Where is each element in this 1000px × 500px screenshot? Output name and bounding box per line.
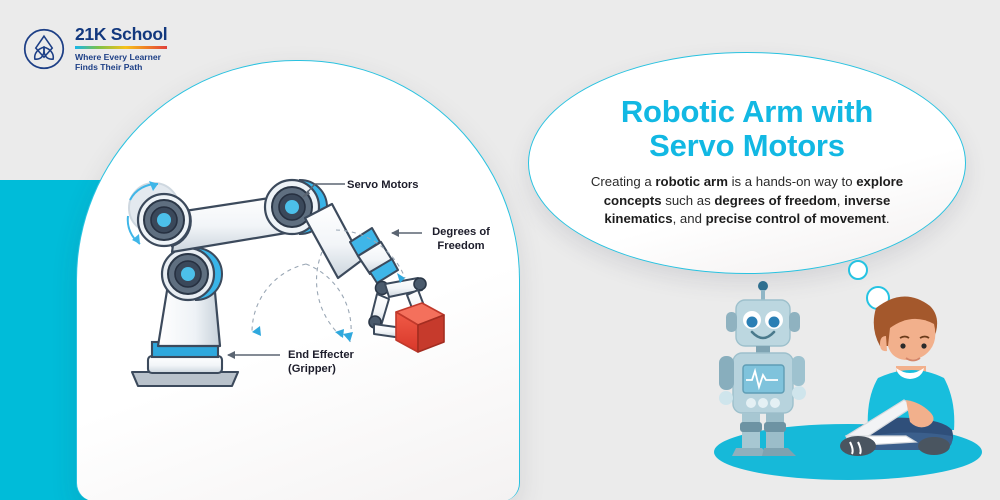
label-dof-line2: Freedom (437, 240, 484, 252)
characters-scene (700, 250, 1000, 500)
servo-joint-shoulder (128, 181, 191, 246)
poster-canvas: 21K School Where Every Learner Finds The… (0, 0, 1000, 500)
desc-t4: , (837, 193, 844, 208)
hero-text-oval: Robotic Arm with Servo Motors Creating a… (528, 52, 966, 274)
desc-b1: robotic arm (655, 174, 728, 189)
title-line-2: Servo Motors (649, 128, 845, 163)
desc-t1: Creating a (591, 174, 656, 189)
servo-joint-elbow (162, 248, 222, 300)
desc-b5: precise control of movement (706, 211, 886, 226)
desc-b3: degrees of freedom (714, 193, 836, 208)
boy-with-laptop (840, 296, 954, 456)
page-title: Robotic Arm with Servo Motors (621, 95, 873, 163)
logo-tagline-line2: Finds Their Path (75, 62, 142, 72)
desc-t3: such as (662, 193, 715, 208)
thought-bubble-small (849, 261, 867, 279)
lotus-circle-logo-icon (22, 27, 66, 71)
label-eff-line2: (Gripper) (288, 363, 336, 375)
logo-name: 21K School (75, 26, 167, 44)
label-eff-line1: End Effecter (288, 349, 354, 361)
label-dof-line1: Degrees of (432, 226, 490, 238)
brand-logo[interactable]: 21K School Where Every Learner Finds The… (22, 26, 167, 73)
logo-wordmark: 21K School Where Every Learner Finds The… (75, 26, 167, 73)
label-degrees-of-freedom: Degrees of Freedom (424, 225, 498, 253)
desc-t6: . (886, 211, 890, 226)
label-end-effector: End Effecter (Gripper) (288, 348, 384, 376)
label-servo-motors: Servo Motors (347, 178, 419, 192)
logo-tagline: Where Every Learner Finds Their Path (75, 52, 167, 73)
title-line-1: Robotic Arm with (621, 94, 873, 129)
logo-gradient-rule (75, 46, 167, 49)
hero-description: Creating a robotic arm is a hands-on way… (587, 173, 907, 229)
desc-t5: , and (673, 211, 706, 226)
desc-t2: is a hands-on way to (728, 174, 856, 189)
arm-base (132, 342, 238, 386)
logo-tagline-line1: Where Every Learner (75, 52, 161, 62)
